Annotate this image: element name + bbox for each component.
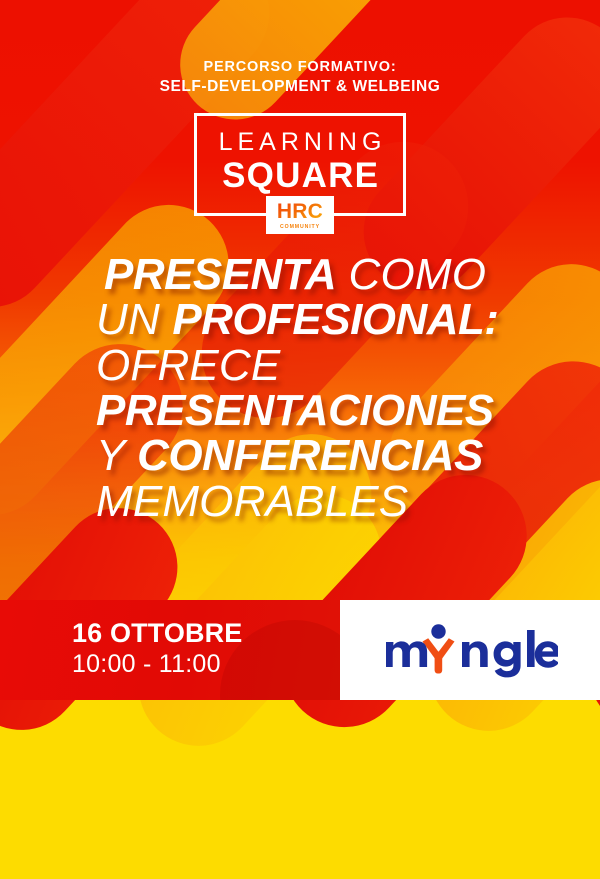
myngle-head-dot	[431, 624, 445, 638]
kicker-text: PERCORSO FORMATIVO: SELF-DEVELOPMENT & W…	[0, 0, 600, 96]
hrc-badge-subtitle: COMMUNITY	[280, 225, 320, 230]
headline-block: PRESENTA COMO UN PROFESIONAL: OFRECE PRE…	[0, 252, 600, 524]
logo-line-square: SQUARE	[197, 157, 403, 196]
hrc-community-badge: HRC COMMUNITY	[266, 196, 334, 234]
headline-line-4: PRESENTACIONES	[96, 388, 582, 433]
headline-segment: UN	[96, 295, 172, 344]
event-time: 10:00 - 11:00	[72, 650, 340, 679]
headline-segment: Y	[96, 431, 137, 480]
poster-canvas: PERCORSO FORMATIVO: SELF-DEVELOPMENT & W…	[0, 0, 600, 879]
kicker-line-1: PERCORSO FORMATIVO:	[0, 58, 600, 77]
hrc-badge-letters: HRC	[277, 201, 323, 222]
poster-header: PERCORSO FORMATIVO: SELF-DEVELOPMENT & W…	[0, 0, 600, 216]
headline-line-6: MEMORABLES	[96, 479, 582, 524]
headline-line-1: PRESENTA COMO	[104, 252, 582, 297]
learning-square-logo: LEARNING SQUARE HRC COMMUNITY	[194, 113, 406, 216]
event-date: 16 OTTOBRE	[72, 619, 340, 647]
headline-segment: MEMORABLES	[96, 477, 408, 526]
event-date-content: 16 OTTOBRE 10:00 - 11:00	[0, 600, 340, 679]
headline-segment: CONFERENCIAS	[137, 431, 483, 480]
myngle-person-y-icon	[423, 638, 455, 673]
headline-line-5: Y CONFERENCIAS	[96, 433, 582, 478]
headline-line-2: UN PROFESIONAL:	[96, 297, 582, 342]
headline-segment: PRESENTA	[104, 250, 336, 299]
headline-segment: OFRECE	[96, 341, 280, 390]
logo-line-learning: LEARNING	[197, 130, 403, 155]
myngle-wordmark	[386, 630, 558, 677]
kicker-line-2: SELF-DEVELOPMENT & WELBEING	[0, 77, 600, 97]
headline-segment: PROFESIONAL:	[172, 295, 498, 344]
myngle-logo	[382, 622, 558, 678]
event-date-banner: 16 OTTOBRE 10:00 - 11:00	[0, 600, 340, 700]
headline-line-3: OFRECE	[96, 343, 582, 388]
sponsor-panel	[340, 600, 600, 700]
headline-segment: PRESENTACIONES	[96, 386, 494, 435]
headline-segment: COMO	[336, 250, 486, 299]
